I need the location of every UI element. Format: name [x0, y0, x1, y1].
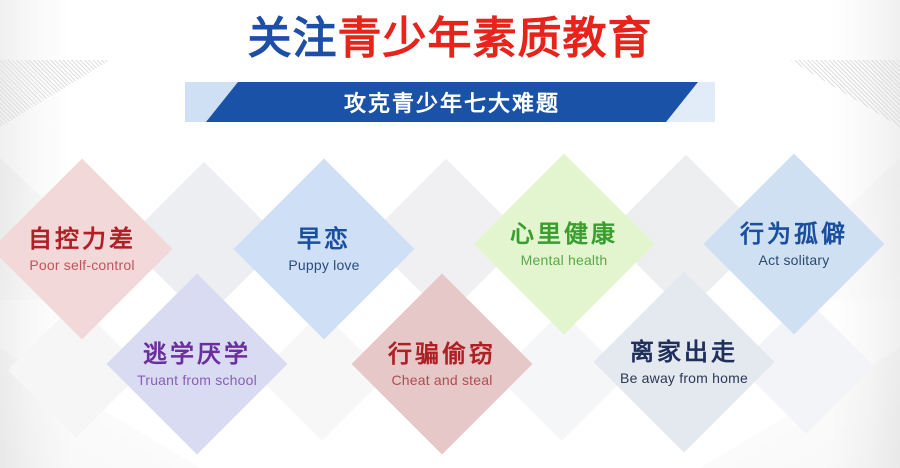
topic-title-en: Truant from school	[137, 371, 257, 387]
topic-title-en: Poor self-control	[29, 256, 134, 272]
page-title-red-part: 青少年素质教育	[338, 13, 653, 64]
topic-title-en: Cheat and steal	[391, 371, 492, 387]
topic-title-cn: 心里健康	[510, 221, 618, 247]
topic-title-cn: 行骗偷窃	[388, 341, 496, 367]
topic-title-cn: 离家出走	[630, 339, 738, 365]
topic-title-cn: 自控力差	[28, 226, 136, 252]
topic-diamond-content: 行为孤僻Act solitary	[704, 154, 885, 335]
topic-title-en: Mental health	[521, 251, 608, 267]
page-title-blue-part: 关注	[248, 13, 338, 64]
topic-diamond[interactable]: 行为孤僻Act solitary	[703, 153, 884, 334]
topic-title-cn: 早恋	[297, 226, 351, 252]
topic-title-cn: 行为孤僻	[740, 221, 848, 247]
page-title: 关注青少年素质教育	[0, 16, 900, 62]
topic-title-en: Act solitary	[759, 251, 830, 267]
banner-label: 攻克青少年七大难题	[344, 86, 560, 118]
topic-title-cn: 逃学厌学	[143, 341, 251, 367]
topic-title-en: Be away from home	[620, 369, 748, 385]
banner-body: 攻克青少年七大难题	[206, 82, 698, 122]
subtitle-banner: 攻克青少年七大难题	[0, 82, 900, 122]
poster-root: 关注青少年素质教育 攻克青少年七大难题 自控力差Poor self-contro…	[0, 0, 900, 468]
topic-title-en: Puppy love	[288, 256, 359, 272]
